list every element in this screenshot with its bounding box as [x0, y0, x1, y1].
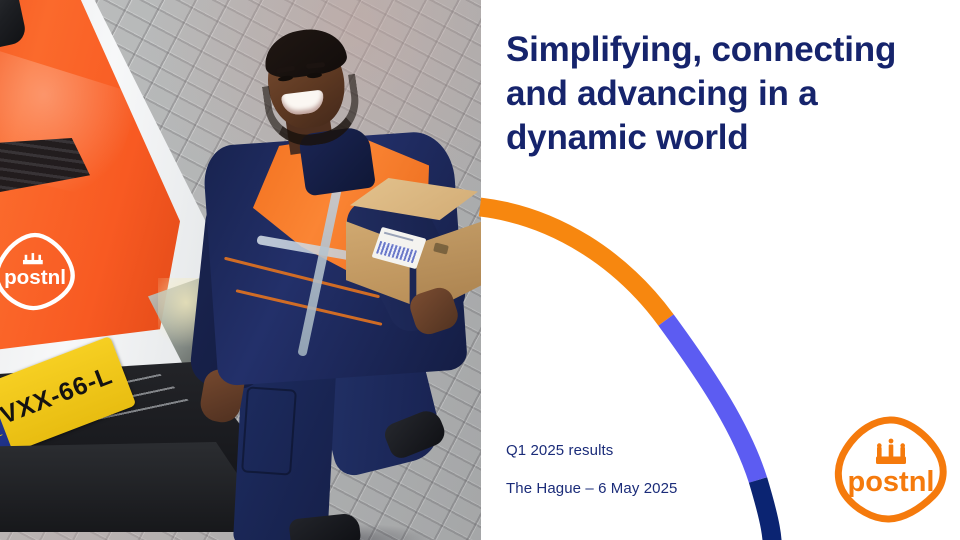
postnl-logo-icon: postnl	[832, 411, 950, 529]
location-date-label: The Hague – 6 May 2025	[506, 480, 836, 497]
postnl-triangle-logo-white-icon: postnl	[0, 230, 78, 314]
page-title: Simplifying, connecting and advancing in…	[506, 28, 946, 160]
hero-photo: postnl NL VXX-66-L	[0, 0, 481, 540]
courier-trouser-pocket	[241, 386, 297, 475]
logo-crown-icon	[876, 439, 906, 464]
title-slide: postnl NL VXX-66-L	[0, 0, 960, 540]
parcel-label-barcode	[376, 241, 417, 263]
results-period-label: Q1 2025 results	[506, 442, 836, 459]
title-block: Simplifying, connecting and advancing in…	[506, 28, 946, 160]
logo-wordmark: postnl	[848, 466, 935, 498]
parcel-label-line	[384, 232, 414, 242]
courier-figure	[196, 18, 481, 540]
slide-metadata: Q1 2025 results The Hague – 6 May 2025	[506, 442, 836, 497]
arc-segment-orange	[480, 207, 666, 320]
svg-text:postnl: postnl	[4, 266, 66, 289]
